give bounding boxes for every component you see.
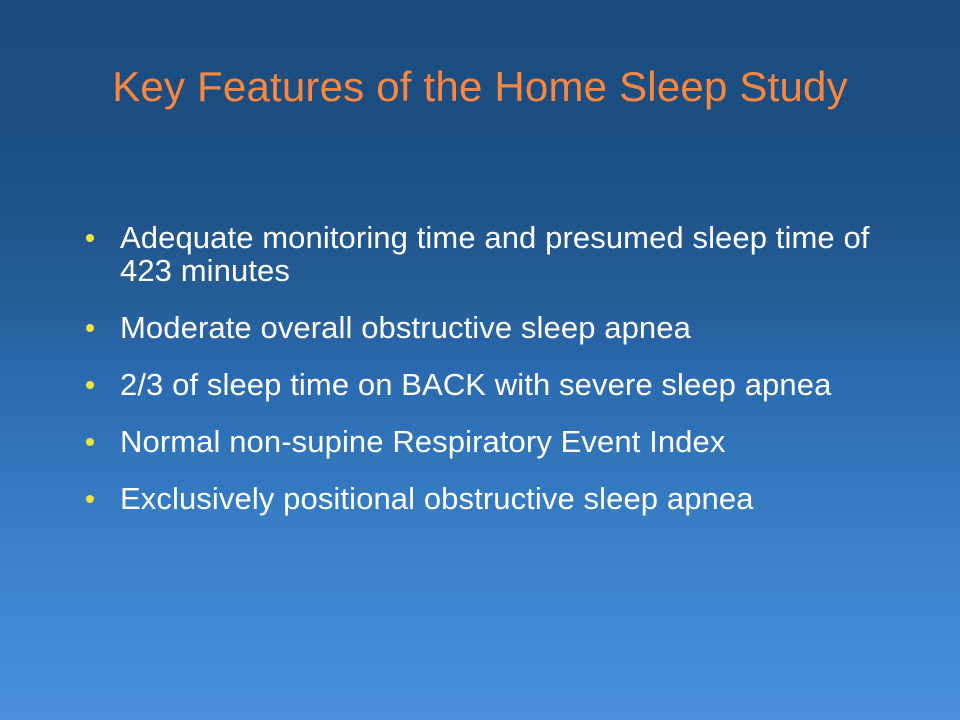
bullet-dot-icon [86,438,94,446]
bullet-dot-icon [86,234,94,242]
list-item: Moderate overall obstructive sleep apnea [78,311,918,344]
bullet-dot-icon [86,381,94,389]
list-item: Normal non-supine Respiratory Event Inde… [78,425,918,458]
list-item: Adequate monitoring time and presumed sl… [78,221,918,287]
list-item: Exclusively positional obstructive sleep… [78,482,918,515]
page-title: Key Features of the Home Sleep Study [0,62,960,112]
list-item-text: Exclusively positional obstructive sleep… [120,482,918,515]
list-item-text: 2/3 of sleep time on BACK with severe sl… [120,368,918,401]
list-item-text: Adequate monitoring time and presumed sl… [120,221,918,287]
bullet-dot-icon [86,324,94,332]
list-item: 2/3 of sleep time on BACK with severe sl… [78,368,918,401]
list-item-text: Normal non-supine Respiratory Event Inde… [120,425,918,458]
bullet-list: Adequate monitoring time and presumed sl… [78,221,918,515]
bullet-dot-icon [86,495,94,503]
presentation-slide: Key Features of the Home Sleep Study Ade… [0,0,960,720]
list-item-text: Moderate overall obstructive sleep apnea [120,311,918,344]
